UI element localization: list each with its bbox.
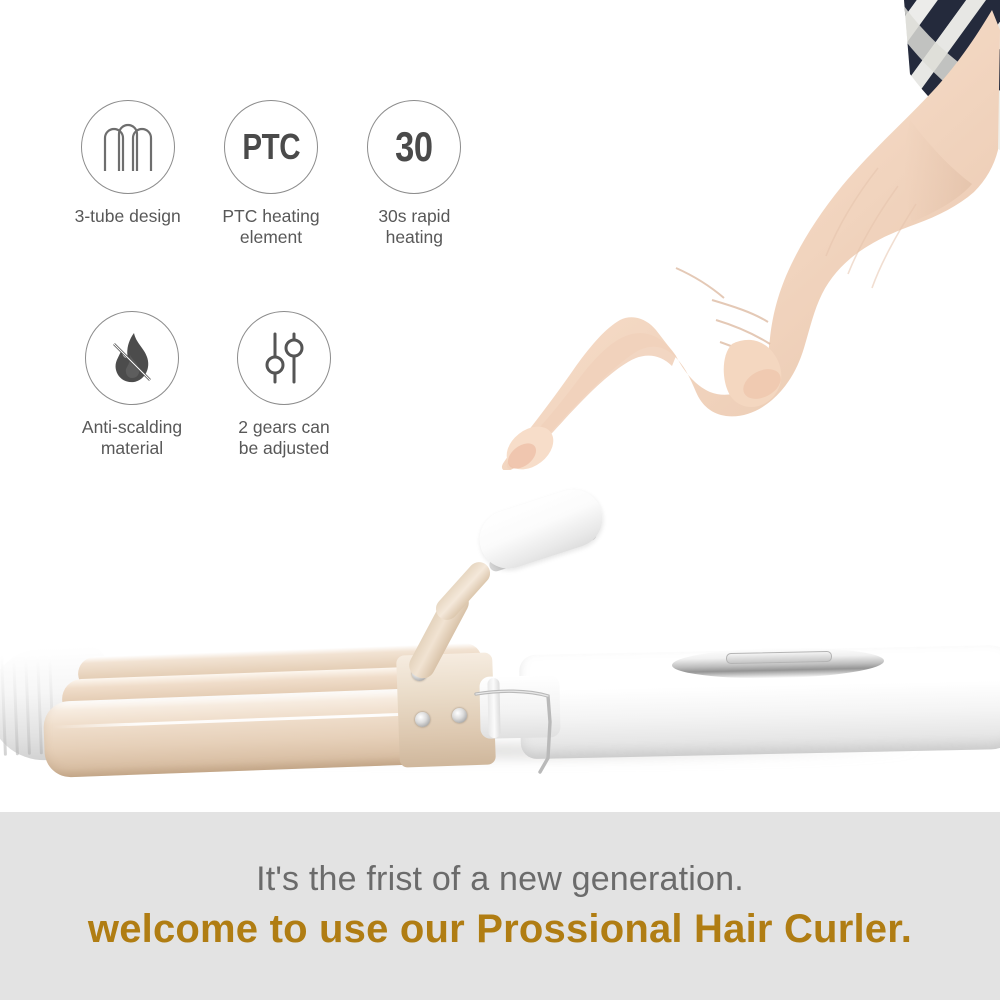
thirty-seconds-icon: 30 [367, 100, 461, 194]
feature-ptc-heating: PTC PTC heating element [199, 100, 342, 249]
three-tube-icon [81, 100, 175, 194]
feature-label: PTC heating element [222, 206, 319, 249]
feature-row-2: Anti-scalding material 2 gears can be ad… [56, 311, 486, 460]
feature-badge-grid: 3-tube design PTC PTC heating element 30… [56, 100, 486, 459]
feature-anti-scalding: Anti-scalding material [56, 311, 208, 460]
screw [452, 708, 467, 723]
ptc-text-icon: PTC [224, 100, 318, 194]
thirty-badge-text: 30 [396, 123, 433, 171]
control-slot[interactable] [726, 651, 832, 664]
caption-line-1: It's the frist of a new generation. [256, 860, 744, 899]
feature-label: 2 gears can be adjusted [238, 417, 329, 460]
pointing-hand [480, 0, 1000, 470]
product-feature-banner: 3-tube design PTC PTC heating element 30… [0, 0, 1000, 1000]
feature-row-1: 3-tube design PTC PTC heating element 30… [56, 100, 486, 249]
no-flame-icon [85, 311, 179, 405]
feature-label: 30s rapid heating [378, 206, 450, 249]
caption-bar: It's the frist of a new generation. welc… [0, 812, 1000, 1000]
wire-stand [470, 676, 600, 782]
two-gear-slider-icon [237, 311, 331, 405]
feature-30s-rapid-heating: 30 30s rapid heating [343, 100, 486, 249]
feature-label: 3-tube design [75, 206, 181, 227]
caption-line-2: welcome to use our Prossional Hair Curle… [88, 907, 912, 952]
screw [415, 712, 430, 727]
ptc-badge-text: PTC [242, 126, 300, 168]
feature-label: Anti-scalding material [82, 417, 182, 460]
feature-2-gears-adjustable: 2 gears can be adjusted [208, 311, 360, 460]
feature-3-tube-design: 3-tube design [56, 100, 199, 249]
